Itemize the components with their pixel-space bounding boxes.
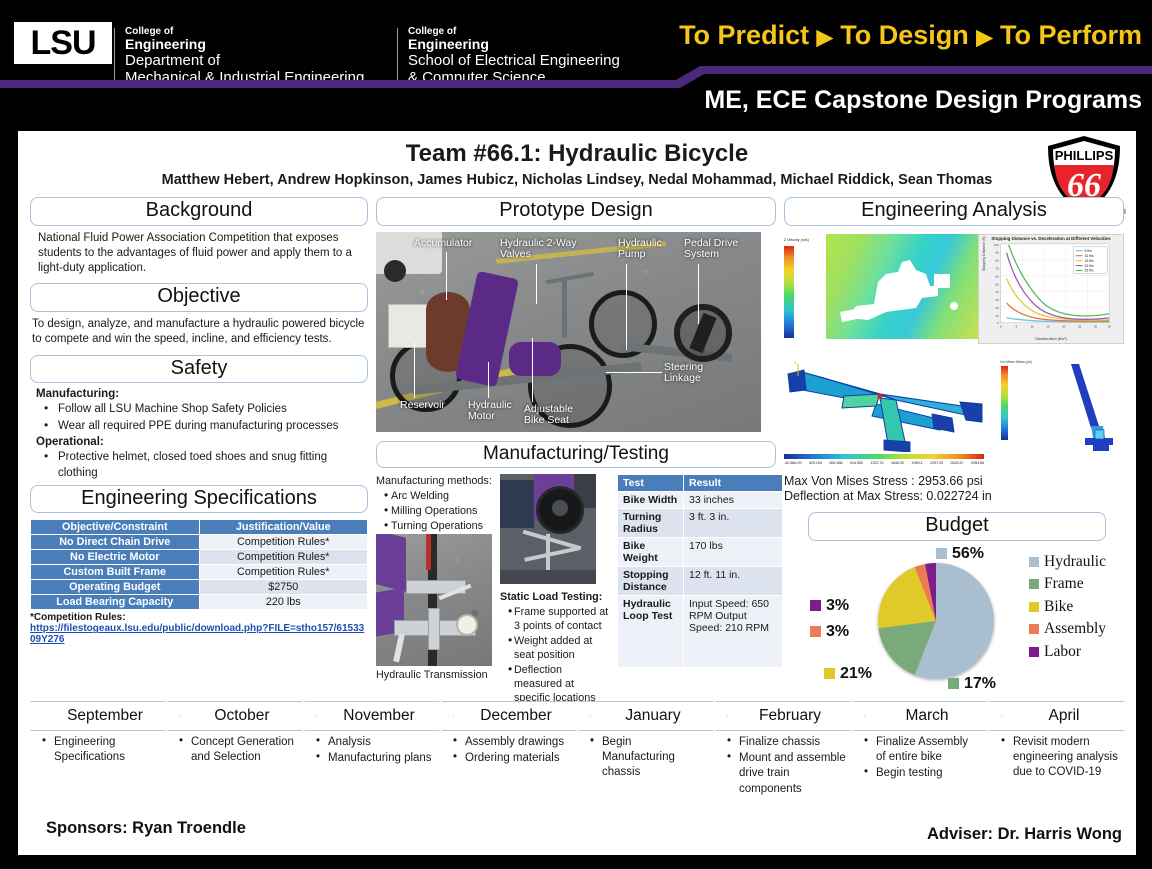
cfd-velocity-contour: [826, 234, 981, 339]
list-item: Manufacturing plans: [314, 751, 439, 766]
svg-text:15: 15: [1046, 324, 1050, 328]
stress-results: Max Von Mises Stress : 2953.66 psi Defle…: [784, 474, 1124, 505]
list-item: Deflection measured at specific location…: [500, 663, 612, 705]
background-car-wheel: [384, 260, 406, 282]
tagline-design: To Design: [840, 20, 969, 50]
list-item: Follow all LSU Machine Shop Safety Polic…: [36, 402, 366, 417]
svg-text:35: 35: [1108, 324, 1112, 328]
handlebar-part: [546, 271, 594, 283]
timeline-month-december: December: [441, 701, 591, 731]
lsu-logo-text: LSU: [31, 24, 96, 63]
cell-key: Operating Budget: [31, 580, 200, 595]
timeline-body-january: Begin Manufacturing chassis: [588, 735, 706, 782]
table-row: No Electric Motor Competition Rules*: [31, 550, 368, 565]
safety-content: Manufacturing: Follow all LSU Machine Sh…: [36, 387, 366, 481]
callout-reservoir: Reservoir: [400, 400, 462, 412]
timeline-month-october: October: [167, 701, 317, 731]
section-heading-budget: Budget: [808, 512, 1106, 541]
page-title: Team #66.1: Hydraulic Bicycle: [18, 140, 1136, 168]
tick-label: 329.154: [809, 460, 822, 465]
legend-item-hydraulic: Hydraulic: [1029, 551, 1106, 573]
prototype-photo: Accumulator Hydraulic 2-Way Valves Hydra…: [376, 232, 761, 432]
reservoir-part: [388, 304, 428, 348]
stopping-distance-chart: Stopping Distance vs. Deceleration at Di…: [978, 234, 1124, 344]
pressure-gauge: [456, 614, 478, 636]
photo-caption: Hydraulic Transmission: [376, 668, 488, 682]
tick-label: 1646.92: [891, 460, 904, 465]
competition-rules-footnote: *Competition Rules: https://filestogeaux…: [30, 612, 368, 645]
column-left: Background National Fluid Power Associat…: [30, 197, 368, 645]
callout-adjustable-seat: Adjustable Bike Seat: [524, 404, 584, 428]
swatch-frame: [1029, 579, 1039, 589]
table-row: Bike Weight 170 lbs: [618, 538, 783, 567]
swatch-bike: [1029, 602, 1039, 612]
svg-text:30: 30: [995, 298, 999, 302]
svg-text:25: 25: [1078, 324, 1082, 328]
cell-key: Load Bearing Capacity: [31, 595, 200, 610]
footnote-label: *Competition Rules:: [30, 612, 368, 623]
cfd-colorbar: [784, 246, 794, 338]
svg-text:20 ft/s: 20 ft/s: [1085, 263, 1094, 267]
pie-label-bike: 21%: [824, 665, 872, 683]
timeline-body-february: Finalize chassis Mount and assemble driv…: [725, 735, 847, 798]
frame-fea-plot: Y: [784, 360, 984, 452]
safety-group-label: Operational:: [36, 435, 366, 450]
tick-label: 2953.66: [971, 460, 984, 465]
cell-key: No Direct Chain Drive: [31, 535, 200, 550]
svg-text:80: 80: [995, 258, 999, 262]
max-von-mises-stress: Max Von Mises Stress : 2953.66 psi: [784, 474, 1124, 489]
section-heading-analysis: Engineering Analysis: [784, 197, 1124, 226]
leader-line: [446, 252, 447, 300]
static-test-list: Frame supported at 3 points of contact W…: [500, 605, 612, 705]
frame-fea-colorbar: [784, 454, 984, 459]
swatch-hydraulic: [1029, 557, 1039, 567]
manufacturing-methods: Manufacturing methods: Arc Welding Milli…: [376, 474, 516, 534]
svg-text:50: 50: [995, 282, 999, 286]
legend-item-assembly: Assembly: [1029, 618, 1106, 640]
svg-text:20: 20: [1062, 324, 1066, 328]
timeline-list: Engineering Specifications: [40, 735, 165, 765]
competition-rules-link[interactable]: https://filestogeaux.lsu.edu/public/down…: [30, 623, 364, 645]
svg-text:60: 60: [995, 274, 999, 278]
safety-label-operational: Operational: [36, 436, 100, 448]
timeline-month-february: February: [715, 701, 865, 731]
adviser-line: Adviser: Dr. Harris Wong: [927, 825, 1122, 844]
triangle-right-icon: ▶: [817, 26, 833, 49]
timeline-body-december: Assembly drawings Ordering materials: [451, 735, 569, 767]
list-item: Ordering materials: [451, 751, 569, 766]
table-row: Bike Width 33 inches: [618, 492, 783, 509]
list-item: Engineering Specifications: [40, 735, 165, 765]
cell-result: 12 ft. 11 in.: [684, 567, 783, 596]
triangle-right-icon: ▶: [976, 26, 992, 49]
swatch-labor: [810, 600, 821, 611]
lsu-logo: LSU: [14, 22, 112, 64]
budget-pie-chart: 56% 17% 21% 3% 3% Hydraulic Frame: [784, 545, 1124, 705]
timeline-body-october: Concept Generation and Selection: [177, 735, 302, 766]
tick-label: 1969.1: [911, 460, 922, 465]
frame-fea-ticks: -40.58e-09 329.154 654.368 914.550 1322.…: [784, 460, 984, 465]
section-heading-objective: Objective: [30, 283, 368, 312]
table-header-row: Objective/Constraint Justification/Value: [31, 520, 368, 535]
cell-value: $2750: [199, 580, 368, 595]
static-load-test-photo: [500, 474, 596, 584]
svg-text:90: 90: [995, 250, 999, 254]
frame-fea-geometry: Y: [784, 360, 984, 452]
table-row: Custom Built Frame Competition Rules*: [31, 565, 368, 580]
safety-label-manufacturing: Manufacturing: [36, 388, 115, 400]
list-item: Finalize Assembly of entire bike: [862, 735, 980, 765]
cfd-colorbar-label: Z Velocity (m/s): [784, 238, 809, 242]
legend-item-bike: Bike: [1029, 596, 1106, 618]
svg-text:20: 20: [995, 306, 999, 310]
cell-test: Bike Width: [618, 492, 684, 509]
pie-label-frame: 17%: [948, 675, 996, 693]
cell-test: Bike Weight: [618, 538, 684, 567]
floor: [500, 570, 596, 584]
list-item: Assembly drawings: [451, 735, 569, 750]
swatch-hydraulic: [936, 548, 947, 559]
svg-text:25 ft/s: 25 ft/s: [1085, 268, 1094, 272]
max-deflection: Deflection at Max Stress: 0.022724 in: [784, 489, 1124, 504]
leader-line: [698, 264, 699, 324]
svg-text:10 ft/s: 10 ft/s: [1085, 253, 1094, 257]
timeline-list: Finalize Assembly of entire bike Begin t…: [862, 735, 980, 782]
timeline-body-march: Finalize Assembly of entire bike Begin t…: [862, 735, 980, 783]
timeline-month-september: September: [30, 701, 180, 731]
tagline-predict: To Predict: [679, 20, 809, 50]
cell-value: Competition Rules*: [199, 550, 368, 565]
timeline-body-november: Analysis Manufacturing plans: [314, 735, 439, 767]
list-item: Finalize chassis: [725, 735, 847, 750]
swatch-labor: [1029, 647, 1039, 657]
svg-text:15 ft/s: 15 ft/s: [1085, 258, 1094, 262]
column-header: Objective/Constraint: [31, 520, 200, 535]
timeline-month-november: November: [304, 701, 454, 731]
svg-text:5 ft/s: 5 ft/s: [1085, 249, 1093, 253]
poster-canvas: Team #66.1: Hydraulic Bicycle Matthew He…: [18, 131, 1136, 855]
cell-test: Hydraulic Loop Test: [618, 596, 684, 668]
cell-result: 3 ft. 3 in.: [684, 509, 783, 538]
svg-text:0: 0: [997, 320, 999, 324]
header-tagline: To Predict ▶ To Design ▶ To Perform: [679, 20, 1142, 51]
manifold-stem: [428, 608, 440, 650]
table-row: Load Bearing Capacity 220 lbs: [31, 595, 368, 610]
timeline-list: Begin Manufacturing chassis: [588, 735, 706, 781]
table-row: Turning Radius 3 ft. 3 in.: [618, 509, 783, 538]
header-subtitle: ME, ECE Capstone Design Programs: [704, 86, 1142, 115]
cell-result: 170 lbs: [684, 538, 783, 567]
timeline-month-march: March: [852, 701, 1002, 731]
methods-label: Manufacturing methods:: [376, 474, 516, 488]
column-right: Engineering Analysis Z Velocity (m/s) St…: [784, 197, 1124, 705]
cell-value: 220 lbs: [199, 595, 368, 610]
svg-text:100: 100: [994, 242, 999, 246]
timeline-list: Finalize chassis Mount and assemble driv…: [725, 735, 847, 797]
table-row: Stopping Distance 12 ft. 11 in.: [618, 567, 783, 596]
callout-accumulator: Accumulator: [414, 238, 484, 250]
cfd-rider-silhouette: [826, 234, 981, 339]
author-list: Matthew Hebert, Andrew Hopkinson, James …: [18, 172, 1136, 188]
hydraulic-transmission-photo: [376, 534, 492, 666]
tick-label: 914.550: [850, 460, 863, 465]
purple-fabric: [376, 534, 406, 592]
callout-pedal-drive: Pedal Drive System: [684, 238, 752, 262]
callout-valves: Hydraulic 2-Way Valves: [500, 238, 582, 262]
list-item: Begin Manufacturing chassis: [588, 735, 706, 781]
static-test-label: Static Load Testing:: [500, 590, 612, 604]
cell-key: Custom Built Frame: [31, 565, 200, 580]
table-row: Hydraulic Loop Test Input Speed: 650 RPM…: [618, 596, 783, 668]
background-text: National Fluid Power Association Competi…: [38, 231, 366, 277]
swatch-frame: [948, 678, 959, 689]
section-heading-manufacturing: Manufacturing/Testing: [376, 441, 776, 469]
section-heading-prototype: Prototype Design: [376, 197, 776, 226]
hose-red: [426, 534, 431, 570]
svg-text:10: 10: [1031, 324, 1035, 328]
methods-list: Arc Welding Milling Operations Turning O…: [376, 489, 516, 533]
static-load-testing: Static Load Testing: Frame supported at …: [500, 590, 612, 706]
leader-line: [536, 264, 537, 304]
column-middle: Prototype Design Accumulator: [376, 197, 776, 684]
analysis-row-1: Z Velocity (m/s) Stopping Distance vs. D…: [784, 234, 1124, 354]
objective-text: To design, analyze, and manufacture a hy…: [32, 317, 366, 348]
leader-line: [606, 372, 662, 373]
callout-hydraulic-motor: Hydraulic Motor: [468, 400, 520, 424]
cell-value: Competition Rules*: [199, 565, 368, 580]
phillips-logo-top: PHILLIPS: [1055, 148, 1114, 163]
fork-fea-geometry: [999, 360, 1124, 460]
weight-plate-hole: [552, 500, 568, 516]
manufacturing-body: Manufacturing methods: Arc Welding Milli…: [376, 474, 776, 684]
column-header: Test: [618, 475, 684, 492]
list-item: Concept Generation and Selection: [177, 735, 302, 765]
list-item: Analysis: [314, 735, 439, 750]
pie-label-assembly: 3%: [810, 623, 849, 641]
svg-text:10: 10: [995, 313, 999, 317]
callout-steering-linkage: Steering Linkage: [664, 362, 720, 386]
timeline-list: Concept Generation and Selection: [177, 735, 302, 765]
tick-label: 2297.29: [930, 460, 943, 465]
pie-legend: Hydraulic Frame Bike Assembly Labor: [1029, 551, 1106, 663]
svg-text:40: 40: [995, 290, 999, 294]
tick-label: -40.58e-09: [784, 460, 801, 465]
leader-line: [488, 362, 489, 398]
table-row: No Direct Chain Drive Competition Rules*: [31, 535, 368, 550]
timeline-list: Analysis Manufacturing plans: [314, 735, 439, 766]
callout-pump: Hydraulic Pump: [618, 238, 670, 262]
cell-key: No Electric Motor: [31, 550, 200, 565]
svg-text:70: 70: [995, 266, 999, 270]
svg-text:0: 0: [1000, 324, 1002, 328]
cell-test: Turning Radius: [618, 509, 684, 538]
page-header: LSU College of Engineering Department of…: [0, 0, 1152, 130]
person-jeans: [500, 480, 534, 528]
list-item: Arc Welding: [376, 489, 516, 503]
timeline-body-september: Engineering Specifications: [40, 735, 165, 766]
bike-seat-part: [509, 342, 561, 376]
list-item: Turning Operations: [376, 519, 516, 533]
tick-label: 2625.47: [950, 460, 963, 465]
cell-test: Stopping Distance: [618, 567, 684, 596]
swatch-assembly: [810, 626, 821, 637]
safety-group-label: Manufacturing:: [36, 387, 366, 402]
list-item: Milling Operations: [376, 504, 516, 518]
engineering-specifications-table: Objective/Constraint Justification/Value…: [30, 519, 368, 610]
dept1-line2: Engineering: [125, 37, 364, 52]
tick-label: 1322.74: [870, 460, 883, 465]
timeline-month-january: January: [578, 701, 728, 731]
section-heading-specifications: Engineering Specifications: [30, 485, 368, 514]
pie-label-labor: 3%: [810, 597, 849, 615]
frame-tube: [524, 546, 580, 562]
legend-item-frame: Frame: [1029, 573, 1106, 595]
timeline-list: Assembly drawings Ordering materials: [451, 735, 569, 766]
leader-line: [626, 264, 627, 350]
svg-text:30: 30: [1094, 324, 1098, 328]
table-row: Operating Budget $2750: [31, 580, 368, 595]
leader-line: [414, 342, 415, 398]
purple-accent-stripe: [0, 66, 1152, 88]
tagline-perform: To Perform: [1000, 20, 1142, 50]
dept2-line2: Engineering: [408, 37, 620, 52]
pie-slices: [878, 563, 994, 679]
pie-label-hydraulic: 56%: [936, 545, 984, 563]
steering-post: [562, 278, 567, 338]
fork-fea-plot: Von Mises Stress (psi): [999, 360, 1124, 460]
swatch-assembly: [1029, 624, 1039, 634]
safety-list-operational: Protective helmet, closed toed shoes and…: [36, 450, 366, 481]
analysis-row-2: Y -40.58e-09 329.154 654.368 914.550 132…: [784, 360, 1124, 472]
list-item: Mount and assemble drive train component…: [725, 751, 847, 797]
chart-plot-area: 5 ft/s10 ft/s 15 ft/s20 ft/s 25 ft/s 100…: [979, 235, 1123, 343]
tick-label: 654.368: [829, 460, 842, 465]
lever-handle: [393, 634, 405, 663]
swatch-bike: [824, 668, 835, 679]
list-item: Protective helmet, closed toed shoes and…: [36, 450, 366, 481]
list-item: Weight added at seat position: [500, 634, 612, 662]
column-header: Result: [684, 475, 783, 492]
list-item: Revisit modern engineering analysis due …: [999, 735, 1121, 781]
cell-value: Competition Rules*: [199, 535, 368, 550]
sponsors-line: Sponsors: Ryan Troendle: [46, 819, 246, 838]
column-header: Justification/Value: [199, 520, 368, 535]
test-results-table: Test Result Bike Width 33 inches Turning…: [617, 474, 783, 668]
section-heading-background: Background: [30, 197, 368, 226]
cell-result: 33 inches: [684, 492, 783, 509]
cell-result: Input Speed: 650 RPM Output Speed: 210 R…: [684, 596, 783, 668]
safety-list-manufacturing: Follow all LSU Machine Shop Safety Polic…: [36, 402, 366, 434]
svg-text:5: 5: [1016, 324, 1018, 328]
svg-text:Y: Y: [794, 360, 797, 365]
timeline-body-april: Revisit modern engineering analysis due …: [999, 735, 1121, 782]
timeline-month-april: April: [989, 701, 1136, 731]
section-heading-safety: Safety: [30, 355, 368, 384]
list-item: Begin testing: [862, 766, 980, 781]
leader-line: [532, 338, 533, 402]
table-header-row: Test Result: [618, 475, 783, 492]
timeline-list: Revisit modern engineering analysis due …: [999, 735, 1121, 781]
list-item: Wear all required PPE during manufacturi…: [36, 419, 366, 434]
list-item: Frame supported at 3 points of contact: [500, 605, 612, 633]
legend-item-labor: Labor: [1029, 641, 1106, 663]
